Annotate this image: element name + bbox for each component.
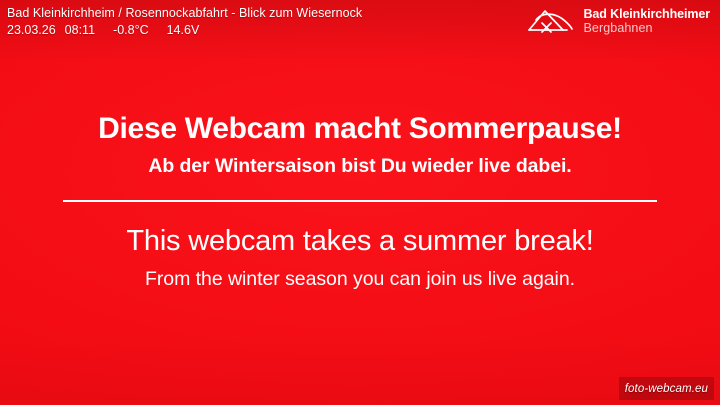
mountain-cross-logo-icon <box>525 6 575 36</box>
watermark-badge[interactable]: foto-webcam.eu <box>619 377 714 400</box>
temperature-reading: -0.8°C <box>113 23 149 37</box>
camera-meta-line: 23.03.2608:11-0.8°C14.6V <box>7 22 362 38</box>
capture-time: 08:11 <box>65 23 95 37</box>
brand-name-secondary: Bergbahnen <box>583 22 710 35</box>
brand-logo[interactable]: Bad Kleinkirchheimer Bergbahnen <box>525 6 710 36</box>
brand-text-block: Bad Kleinkirchheimer Bergbahnen <box>583 7 710 36</box>
camera-title: Bad Kleinkirchheim / Rosennockabfahrt - … <box>7 5 362 21</box>
brand-name-primary: Bad Kleinkirchheimer <box>583 8 710 21</box>
red-background <box>0 0 720 405</box>
camera-info-block: Bad Kleinkirchheim / Rosennockabfahrt - … <box>7 5 362 38</box>
webcam-offline-screen: Bad Kleinkirchheim / Rosennockabfahrt - … <box>0 0 720 405</box>
voltage-reading: 14.6V <box>167 23 200 37</box>
watermark-text: foto-webcam.eu <box>625 383 708 395</box>
capture-date: 23.03.26 <box>7 23 56 37</box>
